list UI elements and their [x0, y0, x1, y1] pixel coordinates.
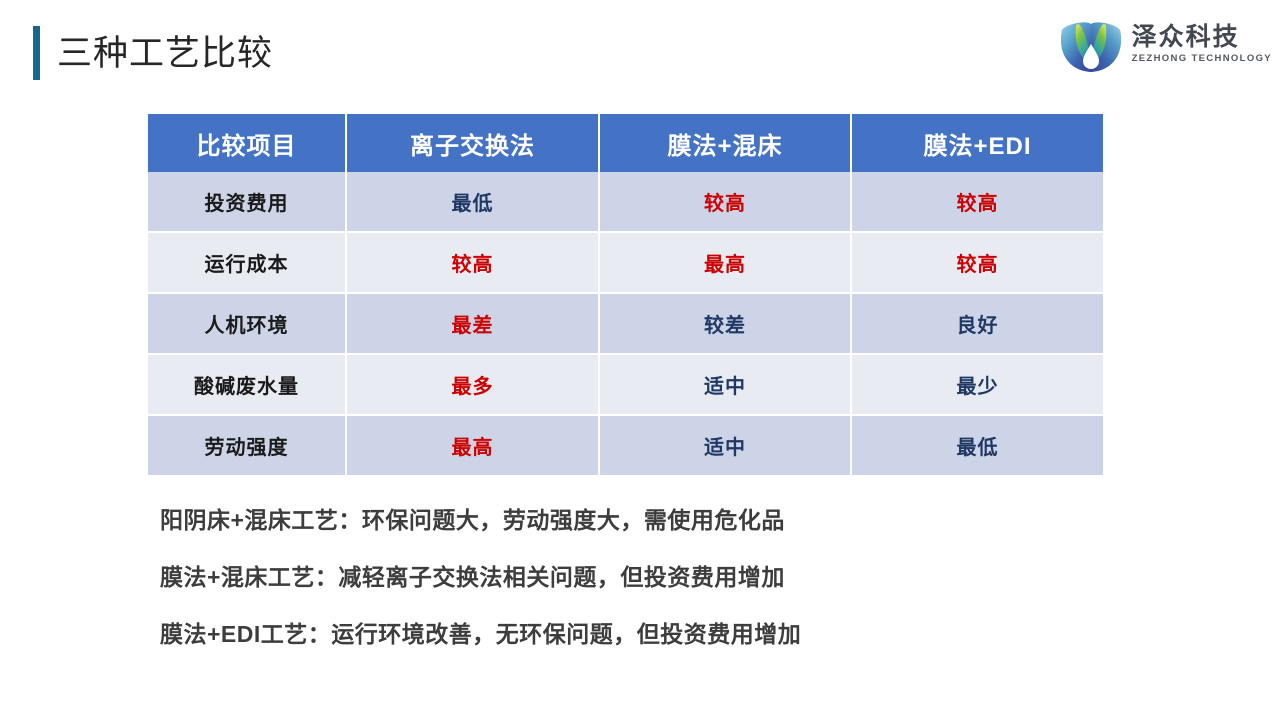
note-line: 膜法+混床工艺：减轻离子交换法相关问题，但投资费用增加	[160, 549, 1160, 606]
cell-value: 较高	[852, 172, 1103, 233]
logo-company-name: 泽众科技	[1132, 24, 1272, 51]
table-row: 酸碱废水量 最多 适中 最少	[148, 355, 1103, 416]
page-title: 三种工艺比较	[57, 36, 273, 71]
row-label: 人机环境	[148, 294, 347, 355]
cell-value: 最高	[347, 416, 600, 475]
column-header-criteria: 比较项目	[148, 114, 347, 172]
cell-value: 适中	[600, 355, 852, 416]
cell-value: 最多	[347, 355, 600, 416]
row-label: 投资费用	[148, 172, 347, 233]
note-line: 阳阴床+混床工艺：环保问题大，劳动强度大，需使用危化品	[160, 492, 1160, 549]
leaf-droplet-emblem-icon	[1056, 14, 1126, 76]
row-label: 运行成本	[148, 233, 347, 294]
column-header-membrane-mixed-bed: 膜法+混床	[600, 114, 852, 172]
table-row: 运行成本 较高 最高 较高	[148, 233, 1103, 294]
table-row: 人机环境 最差 较差 良好	[148, 294, 1103, 355]
note-line: 膜法+EDI工艺：运行环境改善，无环保问题，但投资费用增加	[160, 606, 1160, 663]
cell-value: 适中	[600, 416, 852, 475]
column-header-ion-exchange: 离子交换法	[347, 114, 600, 172]
brand-logo: 泽众科技 ZEZHONG TECHNOLOGY	[1056, 12, 1272, 78]
row-label: 酸碱废水量	[148, 355, 347, 416]
cell-value: 最低	[347, 172, 600, 233]
slide-title-area: 三种工艺比较	[33, 22, 273, 84]
title-accent-bar	[33, 26, 40, 80]
cell-value: 最差	[347, 294, 600, 355]
table-row: 劳动强度 最高 适中 最低	[148, 416, 1103, 475]
cell-value: 最低	[852, 416, 1103, 475]
column-header-membrane-edi: 膜法+EDI	[852, 114, 1103, 172]
table-row: 投资费用 最低 较高 较高	[148, 172, 1103, 233]
logo-text-block: 泽众科技 ZEZHONG TECHNOLOGY	[1132, 24, 1272, 66]
cell-value: 最少	[852, 355, 1103, 416]
cell-value: 良好	[852, 294, 1103, 355]
row-label: 劳动强度	[148, 416, 347, 475]
summary-notes: 阳阴床+混床工艺：环保问题大，劳动强度大，需使用危化品 膜法+混床工艺：减轻离子…	[160, 492, 1160, 663]
cell-value: 最高	[600, 233, 852, 294]
logo-company-subtitle: ZEZHONG TECHNOLOGY	[1132, 53, 1272, 64]
cell-value: 较高	[600, 172, 852, 233]
cell-value: 较高	[347, 233, 600, 294]
cell-value: 较高	[852, 233, 1103, 294]
table-header-row: 比较项目 离子交换法 膜法+混床 膜法+EDI	[148, 114, 1103, 172]
cell-value: 较差	[600, 294, 852, 355]
comparison-table: 比较项目 离子交换法 膜法+混床 膜法+EDI 投资费用 最低 较高 较高 运行…	[148, 114, 1103, 475]
